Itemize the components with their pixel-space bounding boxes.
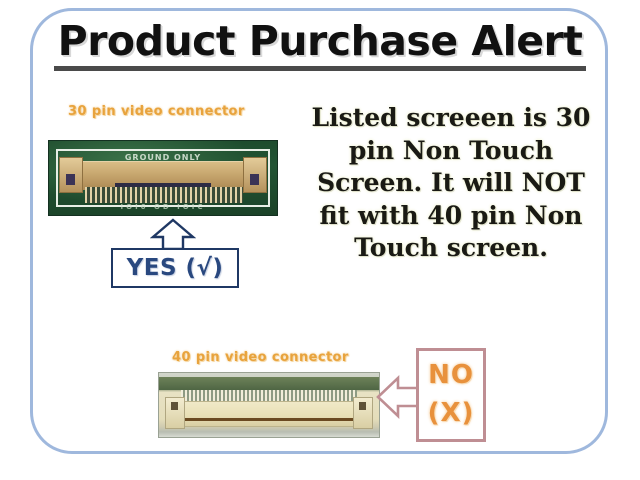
yes-verdict-label: YES (√)	[127, 255, 224, 281]
yes-verdict-box: YES (√)	[111, 248, 239, 288]
message-line: Screen. It will NOT	[296, 167, 606, 200]
caption-30-pin-video-connector: 30 pin video connector	[68, 104, 245, 119]
no-verdict-label-primary: NO	[428, 357, 474, 395]
connector-latch-left-30pin	[59, 157, 83, 193]
connector-latch-right-30pin	[243, 157, 267, 193]
photo-30-pin-connector: GROUND ONLY IOI6 OD IOIC	[48, 140, 278, 216]
alert-graphic: Product Purchase Alert 30 pin video conn…	[0, 0, 640, 480]
message-line: Listed screeen is 30	[296, 102, 606, 135]
pcb-label-bottom-codes: IOI6 OD IOIC	[49, 203, 277, 211]
alert-message-text: Listed screeen is 30 pin Non Touch Scree…	[296, 102, 606, 265]
message-line: Touch screen.	[296, 232, 606, 265]
page-title-container: Product Purchase Alert	[0, 20, 640, 71]
connector-pin-row-30pin	[85, 187, 243, 203]
connector-contact-bar-40pin	[185, 418, 353, 421]
message-line: pin Non Touch	[296, 135, 606, 168]
caption-40-pin-video-connector: 40 pin video connector	[172, 350, 349, 365]
no-verdict-label-secondary: (X)	[428, 395, 475, 433]
connector-latch-right-40pin	[353, 397, 373, 429]
page-title: Product Purchase Alert	[54, 20, 587, 71]
pcb-top-strip-40pin	[159, 377, 379, 390]
connector-body-40pin	[173, 401, 365, 427]
no-verdict-box: NO (X)	[416, 348, 486, 442]
connector-pin-row-40pin	[181, 390, 357, 401]
photo-40-pin-connector	[158, 372, 380, 438]
message-line: fit with 40 pin Non	[296, 200, 606, 233]
connector-latch-left-40pin	[165, 397, 185, 429]
arrow-up-icon	[150, 218, 196, 250]
